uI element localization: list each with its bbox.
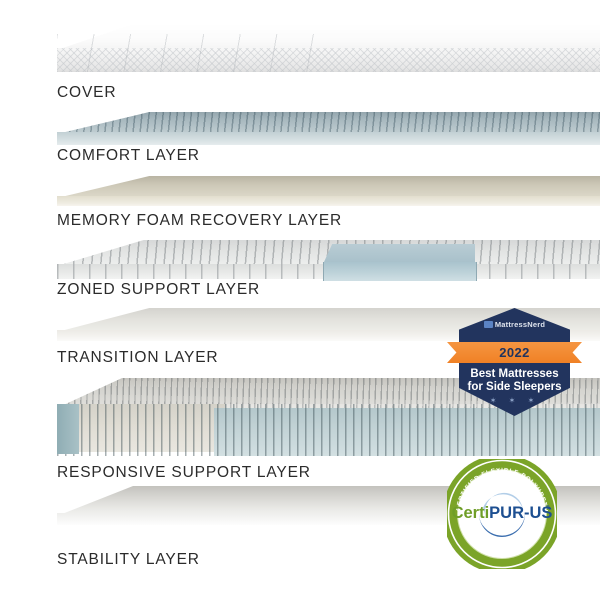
award-brand-logo: MattressNerd <box>455 320 574 329</box>
layer-slab-comfort-layer <box>57 112 600 150</box>
layer-slab-zoned-support-layer <box>57 240 600 282</box>
responsive-left-edge-cap <box>57 404 79 454</box>
layer-label-memory-foam-layer: MEMORY FOAM RECOVERY LAYER <box>57 212 342 230</box>
award-title: Best Mattresses for Side Sleepers <box>463 368 566 394</box>
layer-slab-cover <box>57 24 600 74</box>
layer-label-comfort-layer: COMFORT LAYER <box>57 147 200 165</box>
layer-label-stability-layer: STABILITY LAYER <box>57 551 200 569</box>
mattress-layers-diagram: COVER COMFORT LAYER MEMORY FOAM RECOVERY… <box>0 0 600 600</box>
memory-foam-top-surface <box>57 176 600 198</box>
award-title-line1: Best Mattresses <box>463 368 566 381</box>
layer-slab-memory-foam-layer <box>57 176 600 210</box>
seal-brand-prefix: Certi <box>452 504 490 522</box>
memory-foam-front-face <box>57 196 600 206</box>
layer-label-cover: COVER <box>57 84 116 102</box>
layer-label-responsive-support-layer: RESPONSIVE SUPPORT LAYER <box>57 464 311 482</box>
zoned-blue-zone-top <box>323 244 475 264</box>
mattressnerd-logo-icon <box>484 321 493 328</box>
seal-brand-text: CertiPUR-US <box>452 504 553 522</box>
certipur-us-seal: CONTAINS CERTIFIED FLEXIBLE POLYURETHANE… <box>447 459 557 569</box>
award-year: 2022 <box>447 342 582 363</box>
comfort-rib-texture <box>57 112 600 134</box>
layer-label-zoned-support-layer: ZONED SUPPORT LAYER <box>57 281 260 299</box>
zoned-blue-zone-front <box>323 262 477 281</box>
award-stars: ✶ ✶ ✶ <box>463 396 566 405</box>
seal-trademark-symbol: ® <box>546 504 550 511</box>
award-title-line2: for Side Sleepers <box>463 381 566 394</box>
award-brand-label: MattressNerd <box>495 320 545 329</box>
cover-quilt-lines <box>57 34 339 72</box>
comfort-front-face <box>57 132 600 145</box>
layer-label-transition-layer: TRANSITION LAYER <box>57 349 218 367</box>
seal-brand-suffix: PUR-US <box>489 504 552 522</box>
award-badge: MattressNerd 2022 Best Mattresses for Si… <box>455 308 574 416</box>
